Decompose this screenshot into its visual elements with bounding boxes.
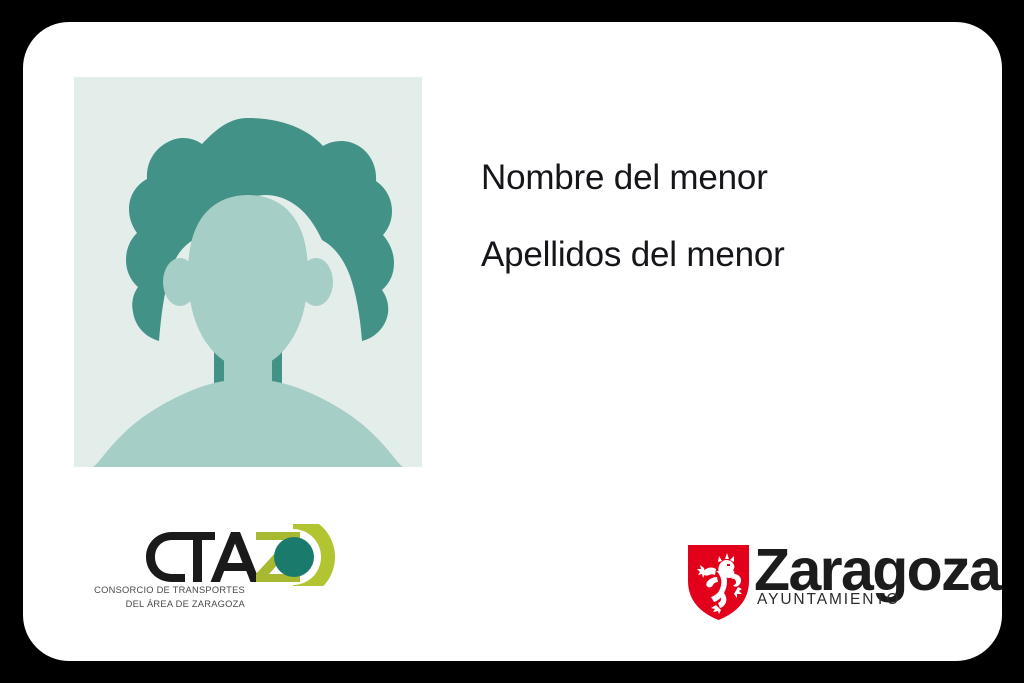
child-name-block: Nombre del menor Apellidos del menor (481, 160, 961, 272)
avatar-photo (74, 77, 422, 467)
zaragoza-lion-shield-icon (686, 543, 751, 621)
ctaz-logo: CONSORCIO DE TRANSPORTES DEL ÁREA DE ZAR… (68, 510, 338, 620)
ctaz-wordmark-icon (141, 524, 341, 586)
person-placeholder-avatar-icon (74, 77, 422, 467)
child-first-name-label: Nombre del menor (481, 160, 961, 195)
zaragoza-subtitle: AYUNTAMIENTO (757, 592, 900, 608)
child-last-name-label: Apellidos del menor (481, 237, 961, 272)
zaragoza-logo: Zaragoza AYUNTAMIENTO (661, 522, 981, 622)
ctaz-tagline-line1: CONSORCIO DE TRANSPORTES (68, 584, 245, 598)
ctaz-tagline: CONSORCIO DE TRANSPORTES DEL ÁREA DE ZAR… (68, 584, 245, 611)
id-card: Nombre del menor Apellidos del menor CON… (23, 22, 1002, 661)
ctaz-tagline-line2: DEL ÁREA DE ZARAGOZA (68, 598, 245, 612)
